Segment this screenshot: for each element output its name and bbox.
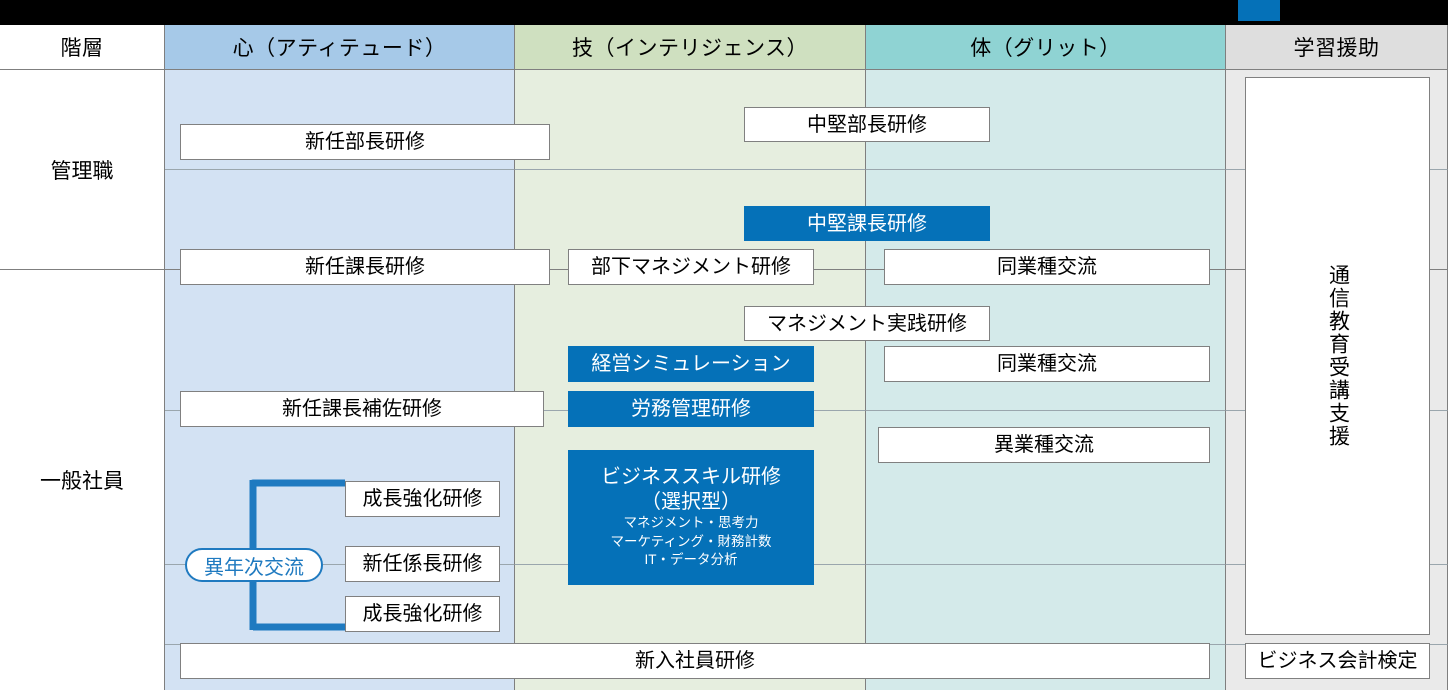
box-business-skill[interactable]: ビジネススキル研修 （選択型） マネジメント・思考力 マーケティング・財務計数 … xyxy=(568,450,814,585)
box-seicho-kyoka-1[interactable]: 成長強化研修 xyxy=(345,481,500,517)
tsushin-kyoiku-label: 通信教育受講支援 xyxy=(1323,264,1353,448)
roadmap-table: 階層 心（アティテュード） 技（インテリジェンス） 体（グリット） 学習援助 管… xyxy=(0,25,1448,690)
box-shin-nyu-shain[interactable]: 新入社員研修 xyxy=(180,643,1210,679)
box-management-jissen[interactable]: マネジメント実践研修 xyxy=(744,306,990,341)
box-chuken-kacho[interactable]: 中堅課長研修 xyxy=(744,206,990,241)
box-buka-management[interactable]: 部下マネジメント研修 xyxy=(568,249,814,285)
cell-r3-kokoro xyxy=(165,270,515,411)
box-dougyoushu-kouryu-1[interactable]: 同業種交流 xyxy=(884,249,1210,285)
header-waza: 技（インテリジェンス） xyxy=(515,25,866,70)
business-skill-line1: ビジネススキル研修 xyxy=(601,465,781,489)
box-roumu-kanri[interactable]: 労務管理研修 xyxy=(568,391,814,427)
box-seicho-kyoka-2[interactable]: 成長強化研修 xyxy=(345,596,500,632)
box-dougyoushu-kouryu-2[interactable]: 同業種交流 xyxy=(884,346,1210,382)
business-skill-detail-2: マーケティング・財務計数 xyxy=(611,533,772,552)
blue-marker xyxy=(1238,0,1280,21)
box-shin-nin-bucho[interactable]: 新任部長研修 xyxy=(180,124,550,160)
business-skill-detail-3: IT・データ分析 xyxy=(645,551,738,570)
business-skill-detail-1: マネジメント・思考力 xyxy=(624,514,759,533)
rank-label-kanrishoku: 管理職 xyxy=(0,70,165,270)
header-karada: 体（グリット） xyxy=(866,25,1226,70)
box-keiei-simulation[interactable]: 経営シミュレーション xyxy=(568,346,814,382)
box-tsushin-kyoiku-shien[interactable]: 通信教育受講支援 xyxy=(1245,77,1430,635)
header-kaisou: 階層 xyxy=(0,25,165,70)
rank-label-ippanshain: 一般社員 xyxy=(0,270,165,690)
pill-inenji-kouryu[interactable]: 異年次交流 xyxy=(185,548,323,582)
cell-r5-karada xyxy=(866,565,1226,645)
box-igyoushu-kouryu[interactable]: 異業種交流 xyxy=(878,427,1210,463)
training-roadmap-diagram: 階層 心（アティテュード） 技（インテリジェンス） 体（グリット） 学習援助 管… xyxy=(0,0,1448,690)
box-chuken-bucho[interactable]: 中堅部長研修 xyxy=(744,107,990,142)
box-shin-nin-kakaricho[interactable]: 新任係長研修 xyxy=(345,546,500,582)
box-shin-nin-kacho-hosa[interactable]: 新任課長補佐研修 xyxy=(180,391,544,427)
box-shin-nin-kacho[interactable]: 新任課長研修 xyxy=(180,249,550,285)
top-black-bar xyxy=(0,0,1448,25)
header-gakushu: 学習援助 xyxy=(1226,25,1448,70)
header-kokoro: 心（アティテュード） xyxy=(165,25,515,70)
box-business-kaikei-kentei[interactable]: ビジネス会計検定 xyxy=(1245,643,1430,679)
business-skill-line2: （選択型） xyxy=(641,490,741,514)
